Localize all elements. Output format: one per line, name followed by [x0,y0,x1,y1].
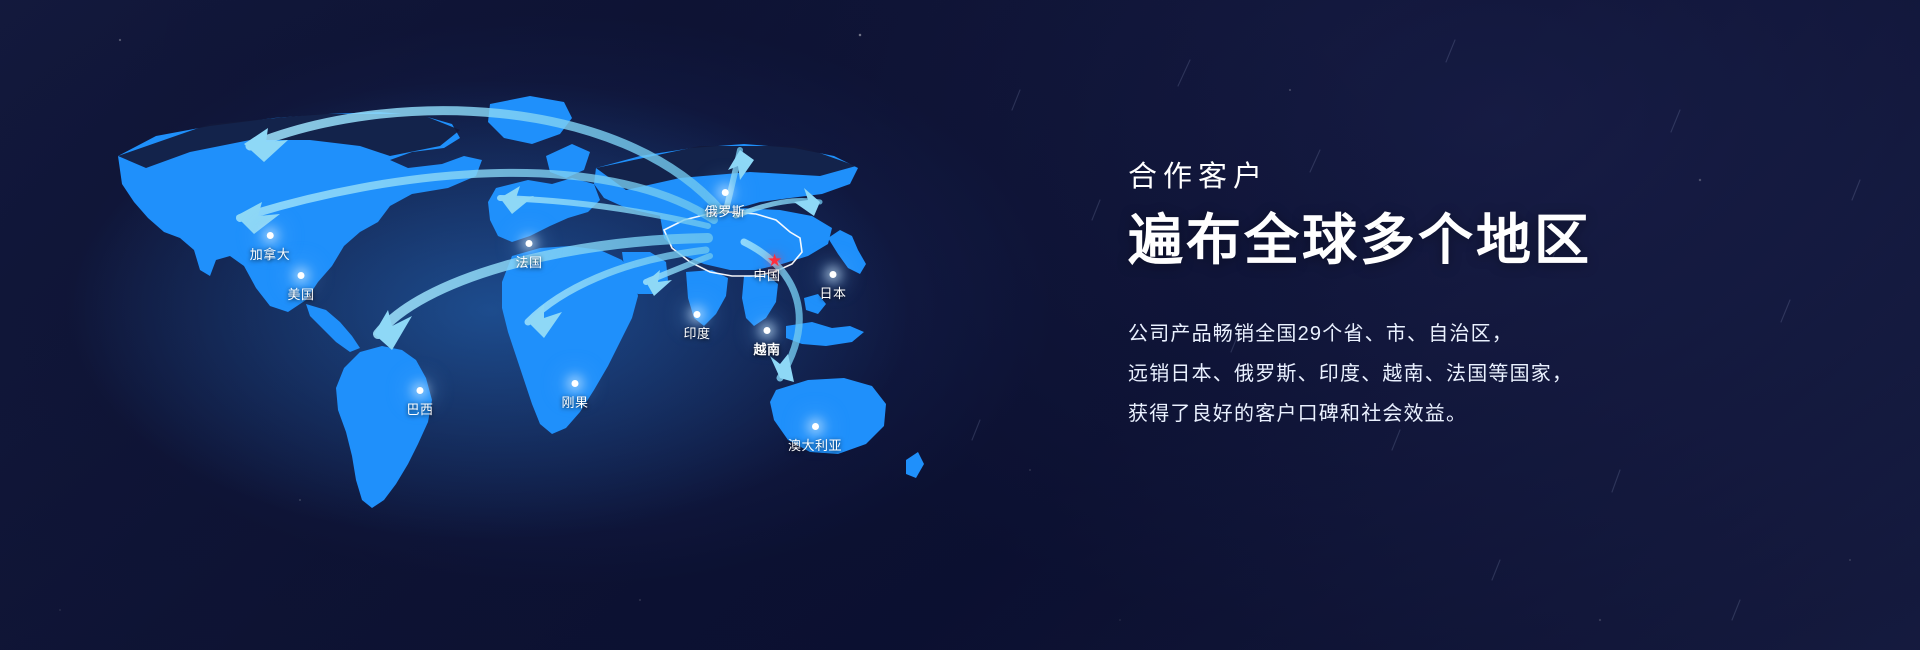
marker-dot-icon [721,189,728,196]
marker-dot-icon [811,423,818,430]
marker-dot-icon [693,311,700,318]
map-marker-brazil[interactable]: 巴西 [406,387,433,418]
map-marker-russia[interactable]: 俄罗斯 [705,189,746,220]
map-marker-congo[interactable]: 刚果 [561,380,588,411]
copy-panel: 合作客户 遍布全球多个地区 公司产品畅销全国29个省、市、自治区， 远销日本、俄… [1128,160,1808,434]
marker-dot-icon [829,271,836,278]
map-marker-india[interactable]: 印度 [683,311,710,342]
marker-dot-icon [763,327,770,334]
map-marker-label: 加拿大 [250,244,291,263]
marker-dot-icon [525,240,532,247]
global-customers-banner: 加拿大 美国 巴西 法国 刚果 俄罗斯 印度 ★ 中国 [0,0,1920,650]
map-marker-label: 巴西 [406,399,433,418]
description-line: 公司产品畅销全国29个省、市、自治区， [1128,314,1808,354]
map-marker-japan[interactable]: 日本 [819,271,846,302]
marker-dot-icon [571,380,578,387]
map-marker-australia[interactable]: 澳大利亚 [788,423,842,454]
map-marker-canada[interactable]: 加拿大 [250,232,291,263]
description-line: 获得了良好的客户口碑和社会效益。 [1128,394,1808,434]
marker-dot-icon [266,232,273,239]
map-marker-label: 越南 [753,339,780,358]
map-marker-label: 日本 [819,283,846,302]
map-marker-label: 刚果 [561,392,588,411]
marker-dot-icon [297,272,304,279]
map-marker-label: 俄罗斯 [705,201,746,220]
page-title: 遍布全球多个地区 [1128,209,1808,272]
map-marker-vietnam[interactable]: 越南 [753,327,780,358]
map-marker-usa[interactable]: 美国 [287,272,314,303]
eyebrow-text: 合作客户 [1128,160,1808,195]
map-marker-label: 法国 [515,252,542,271]
world-map-svg [60,60,940,600]
description-block: 公司产品畅销全国29个省、市、自治区， 远销日本、俄罗斯、印度、越南、法国等国家… [1128,314,1808,434]
map-marker-label: 印度 [683,323,710,342]
description-line: 远销日本、俄罗斯、印度、越南、法国等国家， [1128,354,1808,394]
map-marker-label: 美国 [287,284,314,303]
marker-dot-icon [416,387,423,394]
map-marker-china[interactable]: ★ 中国 [753,256,780,284]
world-map: 加拿大 美国 巴西 法国 刚果 俄罗斯 印度 ★ 中国 [60,60,940,600]
map-marker-label: 澳大利亚 [788,435,842,454]
map-marker-france[interactable]: 法国 [515,240,542,271]
